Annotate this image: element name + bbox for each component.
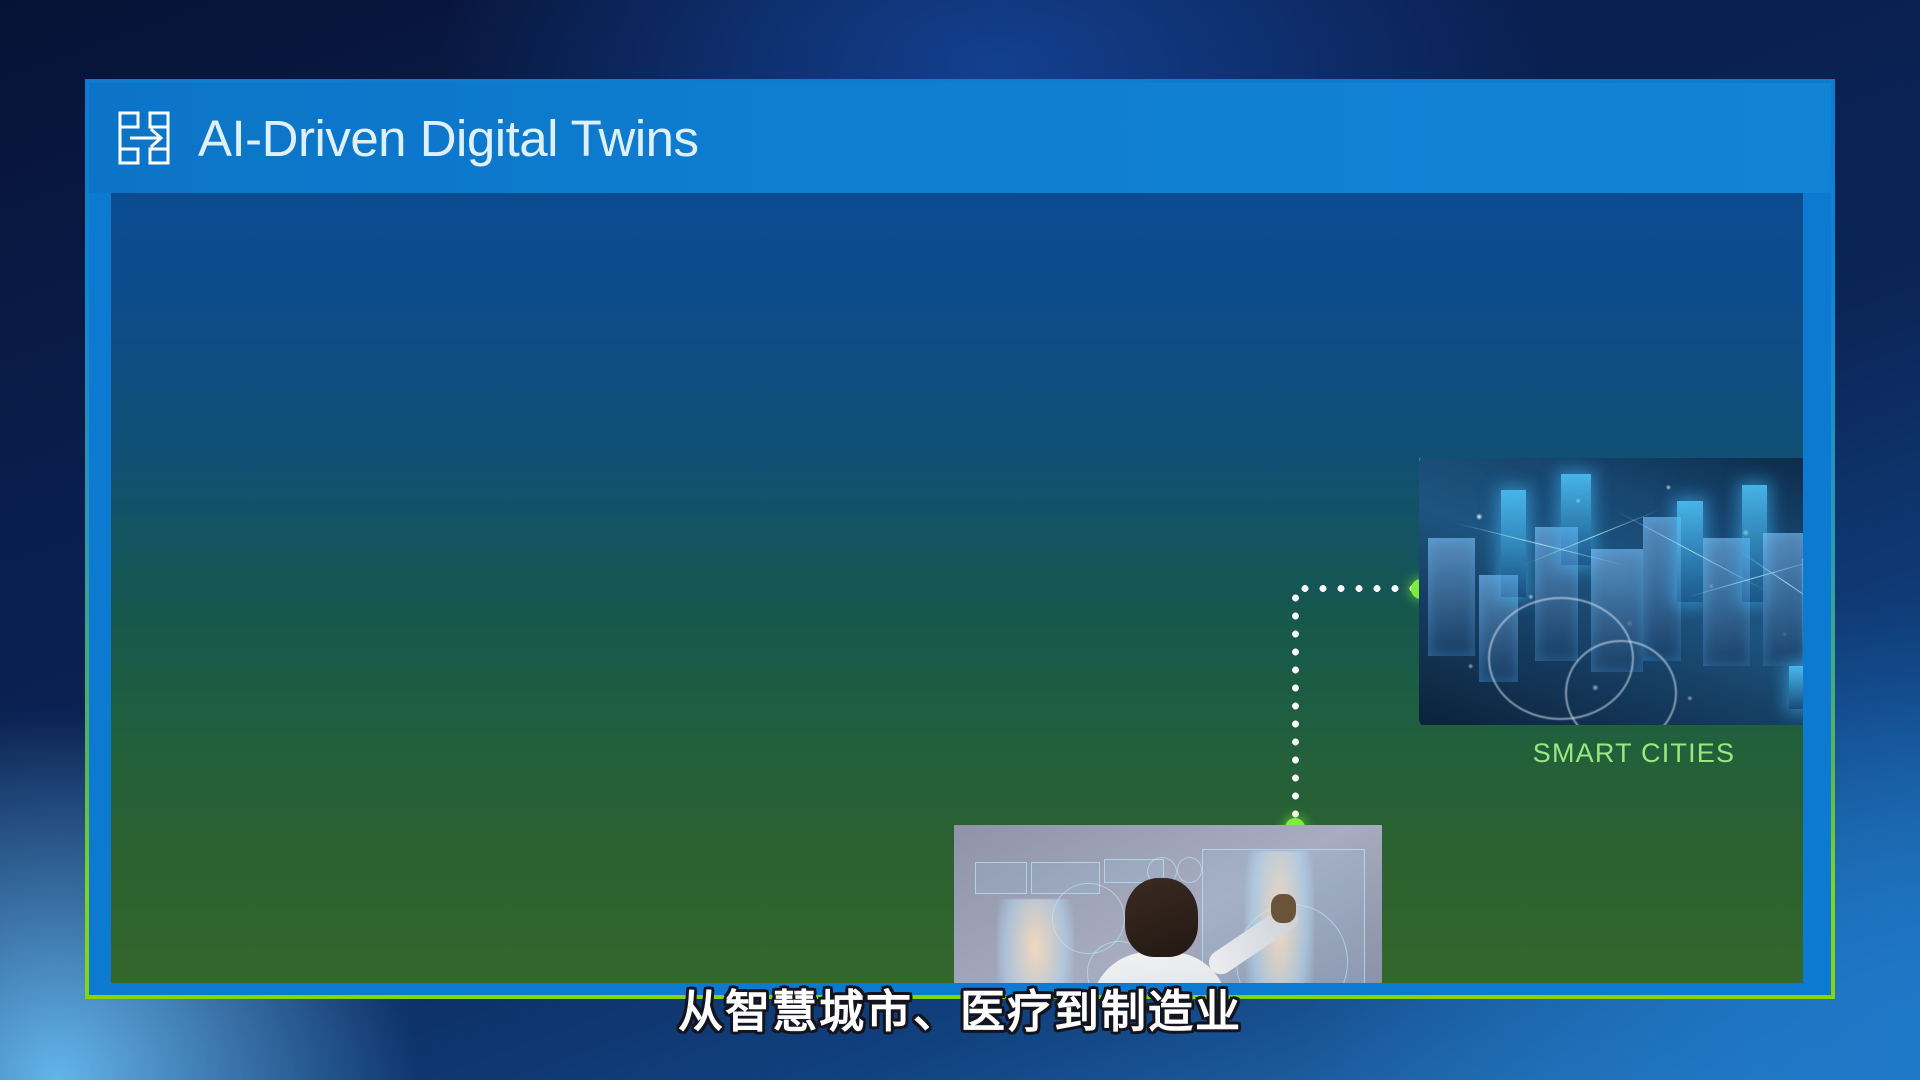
content-canvas: SMART CITIES	[111, 193, 1803, 983]
healthcare-photo	[954, 825, 1382, 983]
slide-header: AI-Driven Digital Twins	[89, 83, 1831, 193]
slide-frame: AI-Driven Digital Twins	[85, 79, 1835, 999]
transfer-arrow-icon	[116, 109, 172, 167]
slide: AI-Driven Digital Twins	[89, 83, 1831, 995]
slide-backdrop: AI-Driven Digital Twins	[0, 0, 1920, 1080]
connector-line-vertical	[1292, 589, 1299, 829]
connector-line-horizontal	[1296, 585, 1421, 592]
page-title: AI-Driven Digital Twins	[198, 113, 699, 164]
healthcare-card[interactable]	[954, 825, 1382, 983]
smart-cities-card[interactable]	[1419, 458, 1803, 725]
subtitle-caption: 从智慧城市、医疗到制造业	[0, 975, 1920, 1040]
smart-cities-photo	[1419, 458, 1803, 725]
smart-cities-caption: SMART CITIES	[1419, 738, 1803, 769]
